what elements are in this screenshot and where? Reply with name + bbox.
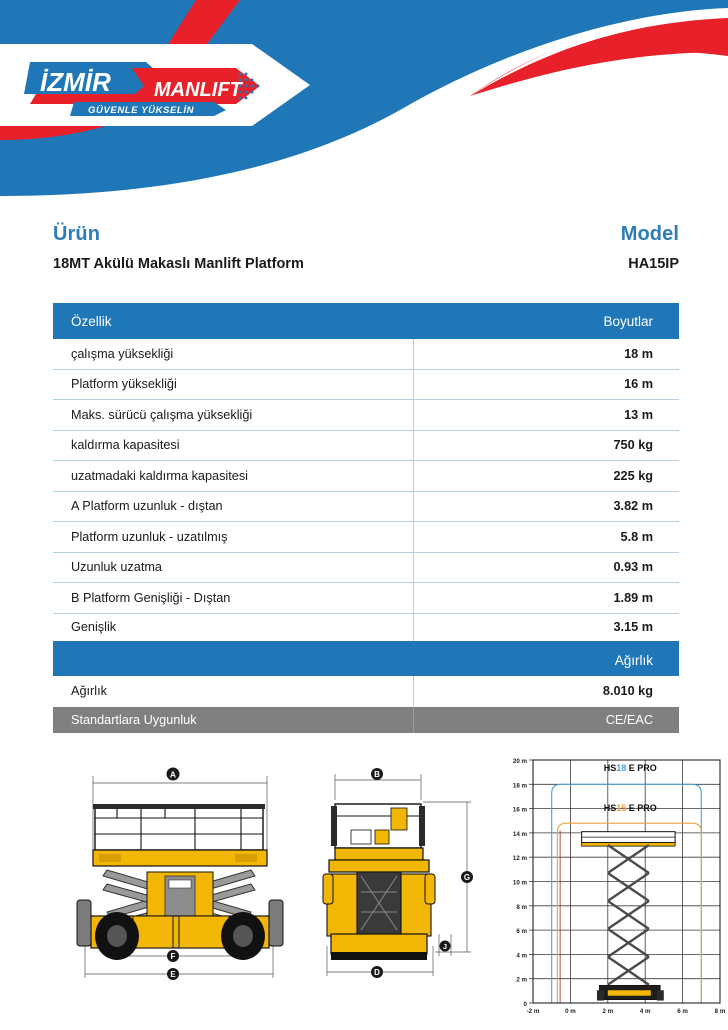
column-divider (413, 461, 414, 491)
chart-ytick-label: 14 m (513, 831, 528, 838)
column-divider (413, 583, 414, 613)
table-row: Platform yüksekliği16 m (53, 370, 679, 401)
weight-row-value: 8.010 kg (603, 684, 653, 698)
chart-wheel-left (597, 990, 604, 1000)
row-value: 18 m (624, 347, 653, 361)
column-divider (413, 431, 414, 461)
row-value: 750 kg (614, 438, 654, 452)
row-feature: Maks. sürücü çalışma yüksekliği (53, 408, 413, 422)
product-spec-page: İZMİR MANLIFT GÜVENLE YÜKSELİN Ürün 18MT… (0, 0, 728, 1030)
dim-label-d: D (374, 968, 380, 977)
row-feature: Genişlik (53, 620, 413, 634)
chart-ytick-label: 16 m (513, 807, 528, 814)
column-divider (413, 522, 414, 552)
weight-data-row: Ağırlık 8.010 kg (53, 676, 679, 707)
model-block: Model HA15IP (621, 222, 679, 273)
table-row: B Platform Genişliği - Dıştan1.89 m (53, 583, 679, 614)
row-value: 1.89 m (614, 591, 654, 605)
column-divider (413, 370, 414, 400)
row-value: 3.82 m (614, 499, 654, 513)
chart-legend-item-1: HS18 E PRO (604, 763, 657, 773)
column-divider (413, 614, 414, 642)
chart-ytick-label: 0 (524, 1001, 528, 1008)
technical-drawings-area: A F E (0, 748, 728, 1030)
row-value: 13 m (624, 408, 653, 422)
column-divider (413, 339, 414, 369)
chart-legend-item-2: HS15 E PRO (604, 803, 657, 813)
row-value: 5.8 m (621, 530, 653, 544)
chart-platform-deck (582, 843, 676, 847)
table-row: Platform uzunluk - uzatılmış5.8 m (53, 522, 679, 553)
chart-legend-label: HS18 E PRO (604, 763, 657, 773)
chart-ytick-label: 8 m (516, 904, 527, 911)
row-feature: uzatmadaki kaldırma kapasitesi (53, 469, 413, 483)
dim-label-a: A (170, 770, 176, 780)
chart-xtick-label: 8 m (715, 1008, 726, 1015)
row-feature: Uzunluk uzatma (53, 560, 413, 574)
chart-xtick-label: 0 m (565, 1008, 576, 1015)
product-name: 18MT Akülü Makaslı Manlift Platform (53, 255, 304, 273)
model-value: HA15IP (621, 255, 679, 273)
specification-table: Özellik Boyutlar çalışma yüksekliği18 mP… (53, 303, 679, 733)
table-row: Genişlik3.15 m (53, 614, 679, 645)
product-block: Ürün 18MT Akülü Makaslı Manlift Platform (53, 222, 304, 273)
column-divider (413, 707, 414, 733)
table-row: Uzunluk uzatma0.93 m (53, 553, 679, 584)
standards-label: Standartlara Uygunluk (53, 713, 197, 727)
chart-wheel-right (657, 990, 664, 1000)
model-label: Model (621, 222, 679, 246)
table-row: A Platform uzunluk - dıştan3.82 m (53, 492, 679, 523)
chart-ytick-label: 6 m (516, 928, 527, 935)
product-label: Ürün (53, 222, 304, 246)
row-value: 225 kg (614, 469, 654, 483)
front-view-drawing: B G D J (305, 756, 495, 1023)
column-divider (413, 676, 414, 707)
logo-izmir-text: İZMİR (40, 67, 111, 97)
dim-label-g: G (464, 873, 470, 882)
row-value: 3.15 m (614, 620, 654, 634)
standards-value: CE/EAC (606, 713, 653, 727)
dim-label-e: E (170, 970, 176, 979)
chart-xtick-label: -2 m (527, 1008, 540, 1015)
row-feature: A Platform uzunluk - dıştan (53, 499, 413, 513)
page-banner: İZMİR MANLIFT GÜVENLE YÜKSELİN (0, 0, 728, 200)
dim-label-b: B (374, 770, 380, 779)
chart-ytick-label: 10 m (513, 880, 528, 887)
row-value: 16 m (624, 377, 653, 391)
weight-row-feature: Ağırlık (53, 684, 413, 698)
logo-tagline-text: GÜVENLE YÜKSELİN (88, 105, 195, 116)
chart-ytick-label: 18 m (513, 782, 528, 789)
column-divider (413, 553, 414, 583)
logo-manlift-text: MANLIFT (154, 79, 244, 101)
weight-header-label: Ağırlık (615, 653, 653, 668)
table-row: Maks. sürücü çalışma yüksekliği13 m (53, 400, 679, 431)
row-value: 0.93 m (614, 560, 654, 574)
working-envelope-chart: 20 m18 m16 m14 m12 m10 m8 m6 m4 m2 m0-2 … (495, 748, 728, 1030)
chart-legend-label: HS15 E PRO (604, 803, 657, 813)
table-row: kaldırma kapasitesi750 kg (53, 431, 679, 462)
company-logo: İZMİR MANLIFT GÜVENLE YÜKSELİN (14, 54, 276, 116)
table-row: çalışma yüksekliği18 m (53, 339, 679, 370)
chart-ytick-label: 20 m (513, 758, 528, 765)
column-divider (413, 492, 414, 522)
chart-chassis-accent (608, 990, 651, 995)
chart-xtick-label: 2 m (602, 1008, 613, 1015)
row-feature: B Platform Genişliği - Dıştan (53, 591, 413, 605)
col-header-feature: Özellik (53, 314, 112, 329)
standards-row: Standartlara Uygunluk CE/EAC (53, 707, 679, 733)
col-header-dimension: Boyutlar (603, 314, 653, 329)
dim-label-j: J (443, 942, 447, 951)
row-feature: çalışma yüksekliği (53, 347, 413, 361)
weight-header-row: Ağırlık (53, 644, 679, 676)
title-row: Ürün 18MT Akülü Makaslı Manlift Platform… (53, 222, 679, 278)
table-row: uzatmadaki kaldırma kapasitesi225 kg (53, 461, 679, 492)
chart-xtick-label: 4 m (640, 1008, 651, 1015)
table-header-row: Özellik Boyutlar (53, 303, 679, 339)
row-feature: Platform yüksekliği (53, 377, 413, 391)
chart-ytick-label: 4 m (516, 952, 527, 959)
row-feature: kaldırma kapasitesi (53, 438, 413, 452)
column-divider (413, 400, 414, 430)
side-view-drawing: A F E (55, 756, 285, 1023)
chart-ytick-label: 2 m (516, 977, 527, 984)
row-feature: Platform uzunluk - uzatılmış (53, 530, 413, 544)
chart-ytick-label: 12 m (513, 855, 528, 862)
column-divider (413, 644, 414, 676)
chart-xtick-label: 6 m (677, 1008, 688, 1015)
dim-label-f: F (171, 952, 176, 961)
